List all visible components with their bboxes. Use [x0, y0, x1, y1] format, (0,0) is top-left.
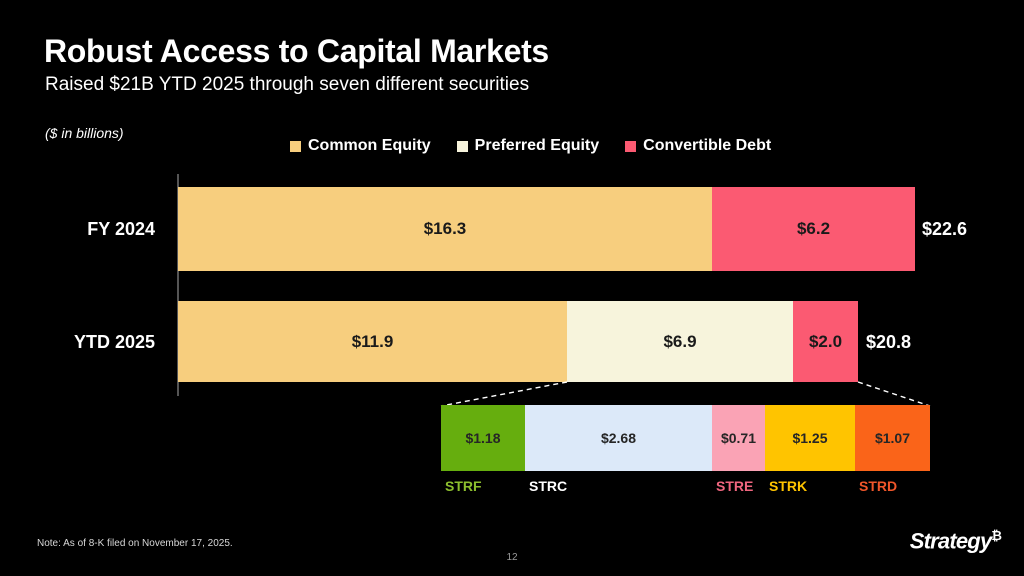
breakout-segment-value: $2.68	[601, 430, 636, 446]
stacked-bar-fy2024: $16.3 $6.2	[178, 187, 915, 271]
breakout-segment-strd[interactable]: $1.07	[855, 405, 930, 471]
breakout-ticker-labels: STRF STRC STRE STRK STRD	[441, 478, 930, 494]
footnote: Note: As of 8-K filed on November 17, 20…	[37, 538, 233, 549]
breakout-segment-strf[interactable]: $1.18	[441, 405, 525, 471]
bar-segment-value: $2.0	[809, 332, 842, 352]
bar-segment-convertible-debt[interactable]: $2.0	[793, 301, 858, 382]
bar-segment-value: $11.9	[352, 332, 394, 352]
bar-category-label-ytd2025: YTD 2025	[0, 332, 155, 353]
bar-total-label-ytd2025: $20.8	[866, 332, 911, 353]
breakout-stacked-bar: $1.18 $2.68 $0.71 $1.25 $1.07	[441, 405, 930, 471]
legend-item-label: Convertible Debt	[643, 137, 771, 155]
breakout-segment-strk[interactable]: $1.25	[765, 405, 855, 471]
breakout-segment-value: $1.25	[792, 430, 827, 446]
breakout-segment-value: $1.07	[875, 430, 910, 446]
breakout-ticker-strk: STRK	[765, 478, 855, 494]
bitcoin-icon: ₿	[991, 528, 1002, 543]
page-subtitle: Raised $21B YTD 2025 through seven diffe…	[45, 74, 529, 96]
legend-item-convertible-debt[interactable]: Convertible Debt	[625, 137, 771, 155]
legend-square-icon	[290, 141, 301, 152]
chart-legend: Common Equity Preferred Equity Convertib…	[290, 137, 771, 155]
legend-item-label: Preferred Equity	[475, 137, 599, 155]
legend-square-icon	[625, 141, 636, 152]
breakout-ticker-strc: STRC	[525, 478, 712, 494]
logo-wordmark: Strategy	[910, 528, 992, 553]
breakout-segment-value: $1.18	[465, 430, 500, 446]
bar-segment-value: $16.3	[424, 219, 467, 239]
bar-segment-preferred-equity[interactable]: $6.9	[567, 301, 793, 382]
breakout-ticker-strd: STRD	[855, 478, 930, 494]
legend-square-icon	[457, 141, 468, 152]
breakout-ticker-strf: STRF	[441, 478, 525, 494]
bar-segment-value: $6.9	[663, 332, 696, 352]
slide-canvas: Robust Access to Capital Markets Raised …	[0, 0, 1024, 576]
company-logo: Strategy₿	[910, 528, 1002, 554]
bar-category-label-fy2024: FY 2024	[0, 219, 155, 240]
legend-item-preferred-equity[interactable]: Preferred Equity	[457, 137, 599, 155]
page-number: 12	[0, 552, 1024, 563]
bar-segment-value: $6.2	[797, 219, 830, 239]
breakout-ticker-stre: STRE	[712, 478, 765, 494]
bar-segment-common-equity[interactable]: $16.3	[178, 187, 712, 271]
bar-total-label-fy2024: $22.6	[922, 219, 967, 240]
bar-segment-convertible-debt[interactable]: $6.2	[712, 187, 915, 271]
breakout-segment-value: $0.71	[721, 430, 756, 446]
stacked-bar-ytd2025: $11.9 $6.9 $2.0	[178, 301, 858, 382]
breakout-segment-stre[interactable]: $0.71	[712, 405, 765, 471]
breakout-segment-strc[interactable]: $2.68	[525, 405, 712, 471]
legend-item-label: Common Equity	[308, 137, 431, 155]
units-note: ($ in billions)	[45, 125, 124, 141]
page-title: Robust Access to Capital Markets	[44, 33, 549, 70]
legend-item-common-equity[interactable]: Common Equity	[290, 137, 431, 155]
bar-segment-common-equity[interactable]: $11.9	[178, 301, 567, 382]
